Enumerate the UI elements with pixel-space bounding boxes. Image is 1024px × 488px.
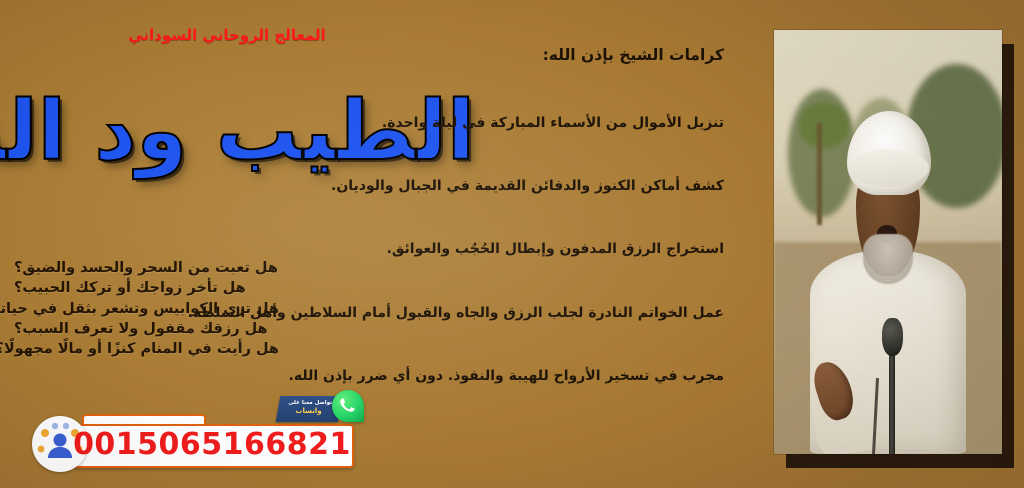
question-item: هل تأخر زواجك أو تركك الحبيب؟ bbox=[14, 278, 279, 298]
question-item: هل رأيت في المنام كنزًا أو مالًا مجهولًا… bbox=[14, 339, 279, 359]
photo-grain-overlay bbox=[774, 30, 1002, 454]
tagline-text: المعالج الروحاني السوداني bbox=[112, 26, 342, 44]
question-item: هل رزقك مقفول ولا تعرف السبب؟ bbox=[14, 319, 279, 339]
promo-banner: المعالج الروحاني السوداني الطيب ود النور… bbox=[0, 0, 1024, 488]
portrait-photo bbox=[774, 30, 1002, 454]
service-item: عمل الخواتم النادرة لجلب الرزق والجاه وا… bbox=[262, 304, 724, 322]
whatsapp-tag-main: واتساب bbox=[277, 407, 339, 416]
question-item: هل تعبت من السحر والحسد والضيق؟ bbox=[14, 258, 279, 278]
services-list: كرامات الشيخ بإذن الله: تنزيل الأموال من… bbox=[262, 46, 724, 385]
service-item: مجرب في تسخير الأرواح للهيبة والنفوذ. دو… bbox=[262, 367, 724, 385]
phone-number[interactable]: 0015065166821 bbox=[74, 424, 350, 464]
whatsapp-icon[interactable] bbox=[332, 390, 364, 422]
service-item: كشف أماكن الكنوز والدفائن القديمة في الج… bbox=[262, 177, 724, 195]
portrait-photo-frame bbox=[774, 30, 1002, 454]
services-heading: كرامات الشيخ بإذن الله: bbox=[262, 46, 724, 64]
service-item: تنزيل الأموال من الأسماء المباركة في ليل… bbox=[262, 114, 724, 132]
service-item: استخراج الرزق المدفون وإبطال الحُجُب وال… bbox=[262, 240, 724, 258]
contact-bar[interactable]: 0015065166821 تواصل معنا على واتساب bbox=[26, 400, 356, 474]
